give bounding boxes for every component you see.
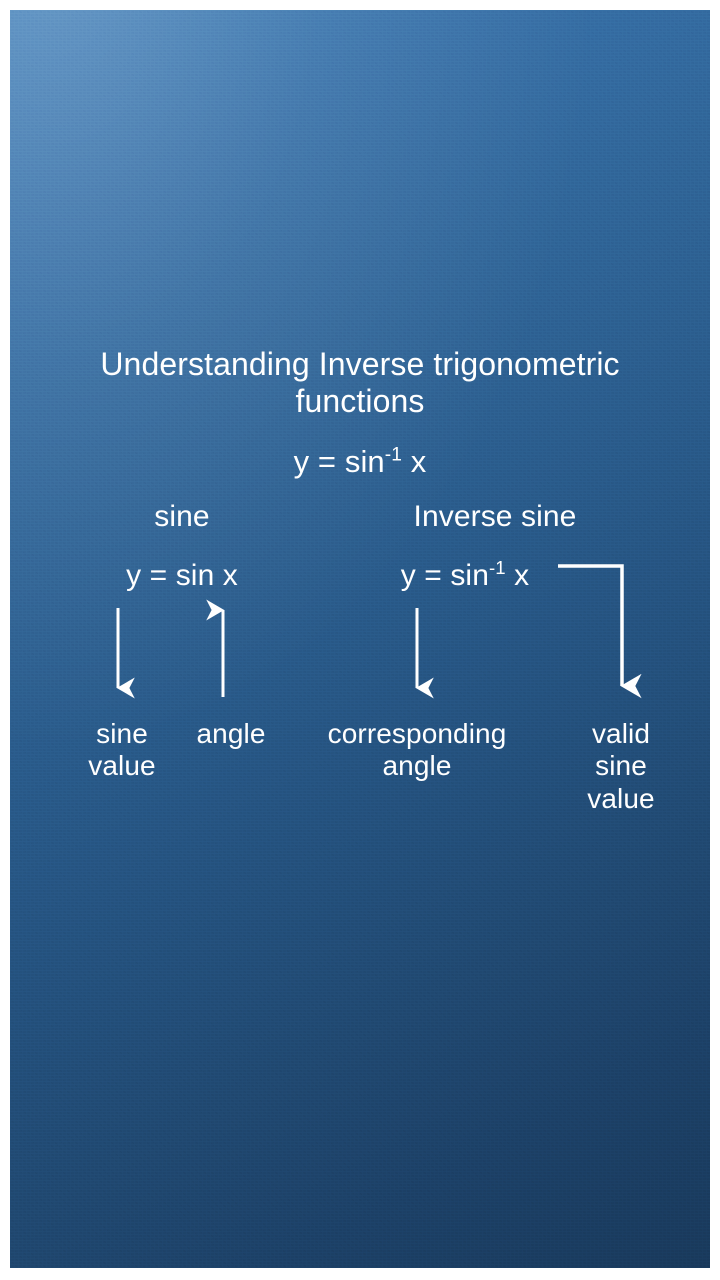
equation-inverse-sine-base: y = sin [401, 559, 489, 592]
arrow-elbow-down-to-valid-sine-value [558, 566, 622, 686]
label-corresponding-angle: corresponding angle [302, 718, 532, 783]
label-angle: angle [176, 718, 286, 750]
main-equation-variable: x [402, 444, 426, 479]
column-header-sine: sine [112, 500, 252, 535]
arrow-diagram [10, 10, 710, 1268]
equation-inverse-sine: y = sin-1 x [365, 559, 565, 594]
slide-canvas: Understanding Inverse trigonometric func… [10, 10, 710, 1268]
column-header-inverse-sine: Inverse sine [395, 500, 595, 535]
background-texture [10, 10, 710, 1268]
main-equation: y = sin-1 x [200, 444, 520, 480]
main-equation-superscript: -1 [385, 445, 402, 466]
page-title: Understanding Inverse trigonometric func… [70, 346, 650, 420]
equation-inverse-sine-variable: x [506, 559, 530, 592]
equation-sine: y = sin x [52, 559, 312, 594]
label-sine-value: sine value [62, 718, 182, 783]
main-equation-base: y = sin [294, 444, 385, 479]
equation-inverse-sine-superscript: -1 [489, 557, 506, 578]
label-valid-sine-value: valid sine value [562, 718, 680, 815]
equation-sine-base: y = sin x [126, 559, 238, 592]
